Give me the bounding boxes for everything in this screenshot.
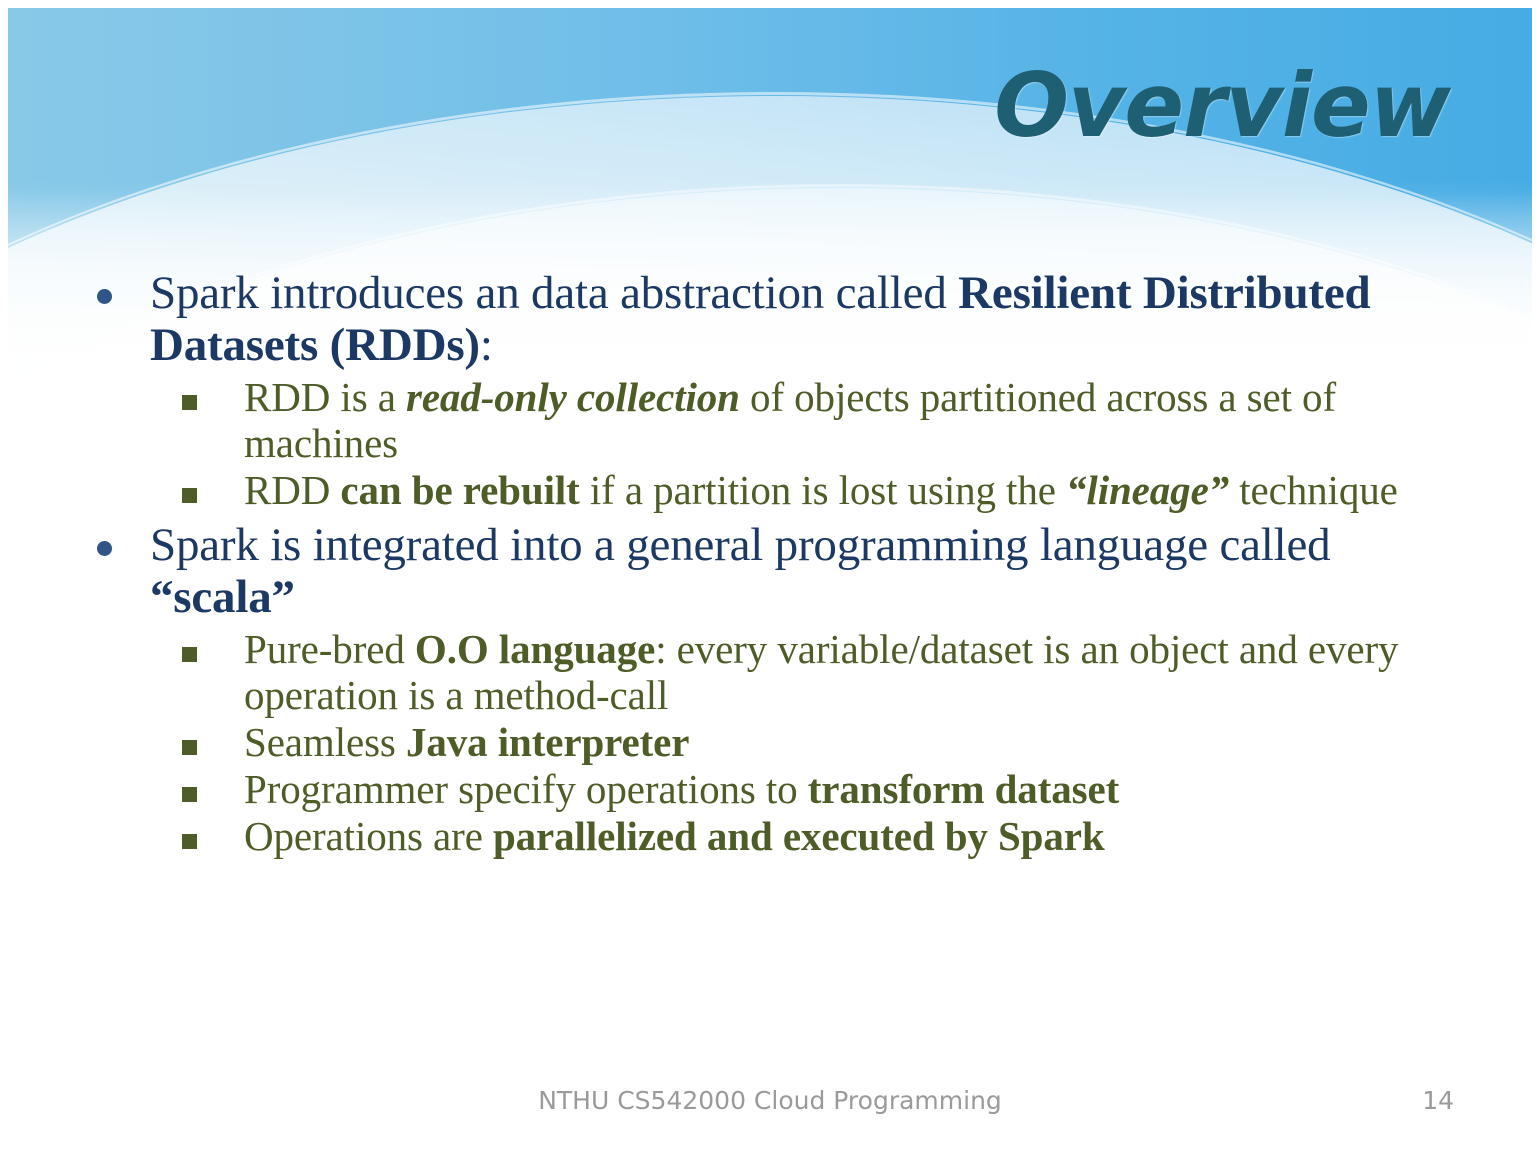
slide: Overview Spark introduces an data abstra… — [0, 0, 1540, 1155]
page-frame — [0, 0, 1540, 1155]
